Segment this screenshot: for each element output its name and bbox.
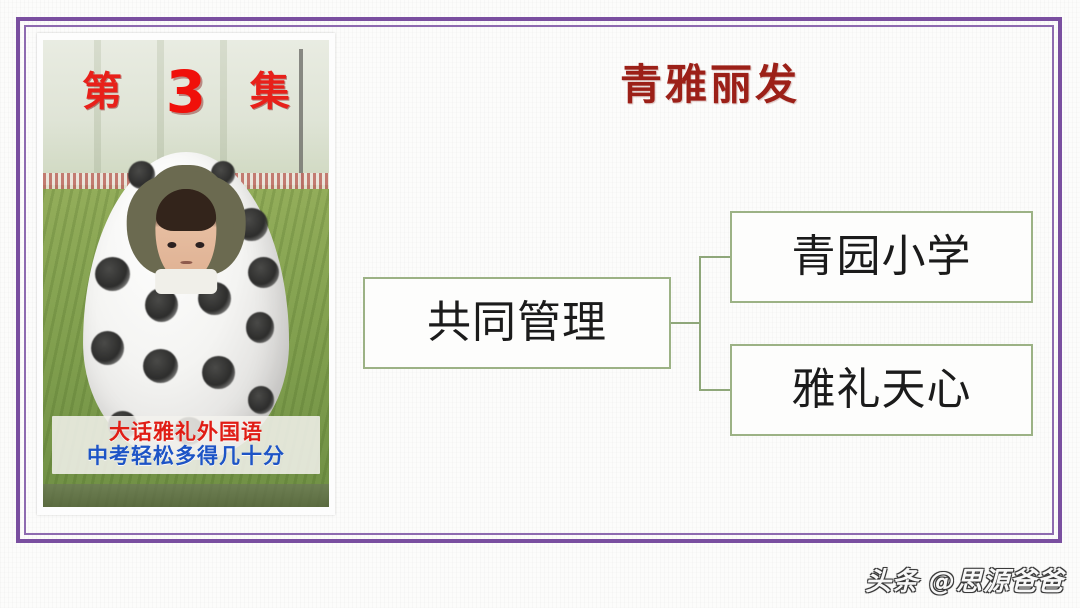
episode-prefix-text: 第 xyxy=(82,72,122,112)
photo-card: 第 3 集 大话雅礼外国语 中考轻松多得几十分 xyxy=(37,33,335,515)
egg-spot xyxy=(202,356,235,390)
episode-suffix-text: 集 xyxy=(250,72,290,112)
egg-spot xyxy=(235,208,268,242)
photo-caption-line-1: 大话雅礼外国语 xyxy=(52,420,321,444)
slide-canvas: 第 3 集 大话雅礼外国语 中考轻松多得几十分 青雅丽发 共同管理 青园小学 雅… xyxy=(0,0,1080,608)
diagram-node-child-1[interactable]: 青园小学 xyxy=(730,211,1033,303)
connector-branch-bottom xyxy=(699,389,731,391)
photo-child-collar xyxy=(155,269,217,294)
photo-caption-line-2: 中考轻松多得几十分 xyxy=(52,444,321,469)
egg-spot xyxy=(248,257,279,288)
diagram-node-child-2[interactable]: 雅礼天心 xyxy=(730,344,1033,436)
photo-child-hair xyxy=(156,189,217,230)
egg-spot xyxy=(91,331,124,365)
connector-trunk xyxy=(699,256,701,391)
connector-parent-stub xyxy=(671,322,701,324)
photo-foreground-strip xyxy=(43,484,329,507)
episode-heading: 第 3 集 xyxy=(43,63,329,121)
egg-spot xyxy=(95,257,130,291)
episode-photo: 第 3 集 大话雅礼外国语 中考轻松多得几十分 xyxy=(43,40,329,507)
photo-child-mouth xyxy=(180,261,192,265)
diagram-node-parent[interactable]: 共同管理 xyxy=(363,277,671,369)
photo-child-face xyxy=(156,189,217,275)
photo-caption: 大话雅礼外国语 中考轻松多得几十分 xyxy=(52,416,321,474)
watermark-text: 头条 @思源爸爸 xyxy=(865,561,1064,598)
photo-face-hole xyxy=(139,171,234,276)
connector-branch-top xyxy=(699,256,731,258)
photo-child-eye-left xyxy=(168,242,177,248)
photo-child-eye-right xyxy=(195,242,204,248)
slide-title: 青雅丽发 xyxy=(560,62,860,108)
egg-spot xyxy=(248,386,275,414)
egg-spot xyxy=(143,349,178,383)
egg-spot xyxy=(246,312,275,343)
episode-number-text: 3 xyxy=(166,63,206,121)
